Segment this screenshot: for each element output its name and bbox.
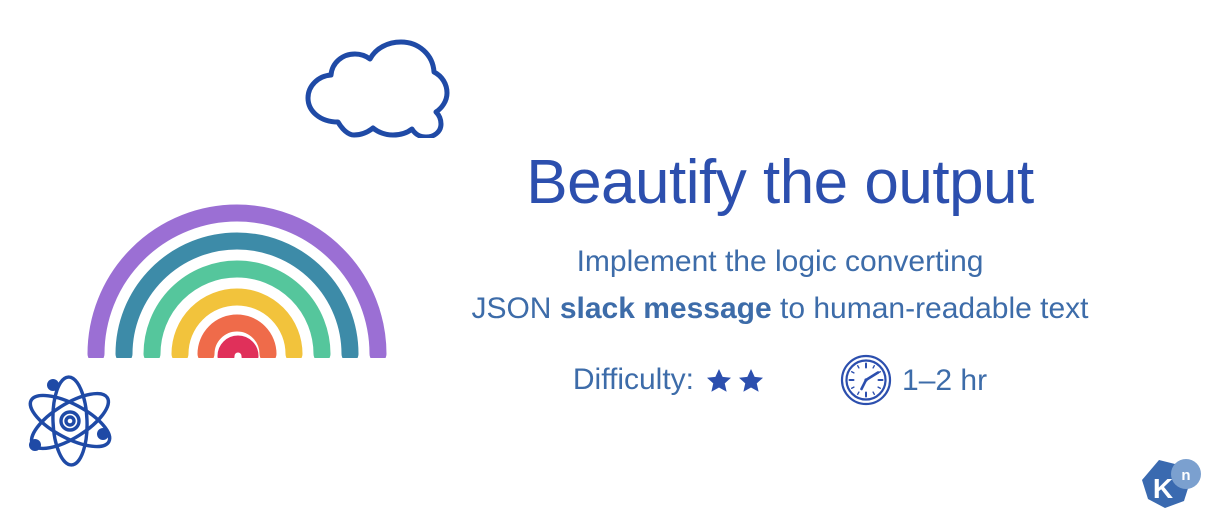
duration-label: 1–2 hr [902,364,987,398]
difficulty-rating [704,366,766,396]
logo-badge-letter: n [1181,467,1190,484]
atom-doodle [20,372,120,470]
subtitle-line-2-prefix: JSON [471,292,559,325]
subtitle-line-1: Implement the logic converting [400,239,1160,286]
cloud-doodle [300,38,450,138]
difficulty-label: Difficulty: [573,363,694,397]
rainbow-doodle [82,186,392,358]
content-block: Beautify the output Implement the logic … [400,150,1160,406]
difficulty-meta: Difficulty: [573,363,766,397]
slide-canvas: Beautify the output Implement the logic … [0,0,1216,532]
subtitle-line-2: JSON slack message to human-readable tex… [400,286,1160,333]
meta-row: Difficulty: [400,354,1160,406]
subtitle-line-2-suffix: to human-readable text [772,292,1089,325]
star-icon [704,366,734,396]
star-icon [736,366,766,396]
page-title: Beautify the output [400,150,1160,215]
brand-logo: K n [1132,456,1204,522]
duration-meta: 1–2 hr [840,354,987,406]
subtitle: Implement the logic converting JSON slac… [400,239,1160,332]
clock-icon [840,354,892,406]
logo-primary-letter: K [1153,473,1173,504]
subtitle-emphasis: slack message [560,292,772,325]
